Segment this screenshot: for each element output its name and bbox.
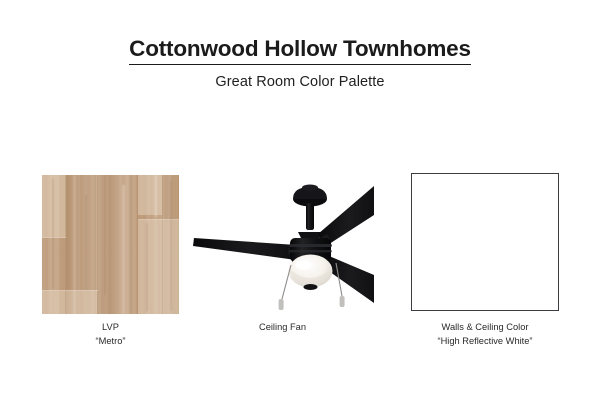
fan-light-finial-icon (304, 284, 318, 290)
grain-streak (104, 175, 106, 295)
fan-downrod-icon (306, 203, 314, 230)
document-header: Cottonwood Hollow Townhomes Great Room C… (0, 36, 600, 90)
wall-color-swatch (411, 173, 559, 311)
plank-seam (114, 175, 115, 314)
fan-caption-line1: Ceiling Fan (259, 322, 306, 332)
page-subtitle: Great Room Color Palette (0, 74, 600, 90)
wood-plank (138, 175, 162, 215)
wall-color-caption: Walls & Ceiling Color “High Reflective W… (375, 321, 595, 349)
wall-caption-line2: “High Reflective White” (375, 335, 595, 349)
plank-seam (65, 175, 66, 314)
palette-item-wall-color: Walls & Ceiling Color “High Reflective W… (411, 168, 559, 311)
grain-streak (146, 223, 148, 311)
ceiling-fan-illustration (190, 168, 375, 313)
plank-seam (162, 175, 163, 314)
plank-end-seam (138, 219, 179, 220)
wood-plank (42, 291, 97, 314)
wood-plank (42, 175, 66, 237)
grain-streak (170, 181, 172, 311)
lvp-caption-line1: LVP (102, 322, 119, 332)
plank-seam (97, 175, 98, 314)
palette-item-lvp: LVP “Metro” (42, 168, 179, 314)
grain-streak (155, 175, 157, 217)
plank-end-seam (42, 237, 66, 238)
color-palette-row: LVP “Metro” (0, 168, 600, 358)
wood-plank (138, 220, 179, 314)
fan-light-dome-icon (289, 255, 333, 288)
grain-streak (122, 185, 125, 314)
fan-pull-chain-left[interactable] (279, 265, 291, 310)
page-title: Cottonwood Hollow Townhomes (129, 36, 471, 65)
grain-streak (73, 175, 76, 314)
lvp-caption-line2: “Metro” (1, 335, 221, 349)
wall-caption-line1: Walls & Ceiling Color (442, 322, 529, 332)
lvp-flooring-swatch (42, 175, 179, 314)
grain-streak (52, 179, 54, 289)
fan-blade-left (193, 238, 296, 260)
plank-end-seam (42, 290, 98, 291)
palette-item-ceiling-fan: Ceiling Fan (190, 168, 375, 313)
wood-plank (98, 175, 114, 314)
plank-seam (137, 175, 138, 314)
grain-streak (85, 195, 87, 290)
ceiling-fan-image (190, 168, 375, 313)
ceiling-fan-caption: Ceiling Fan (173, 321, 393, 335)
grain-streak (130, 175, 132, 314)
